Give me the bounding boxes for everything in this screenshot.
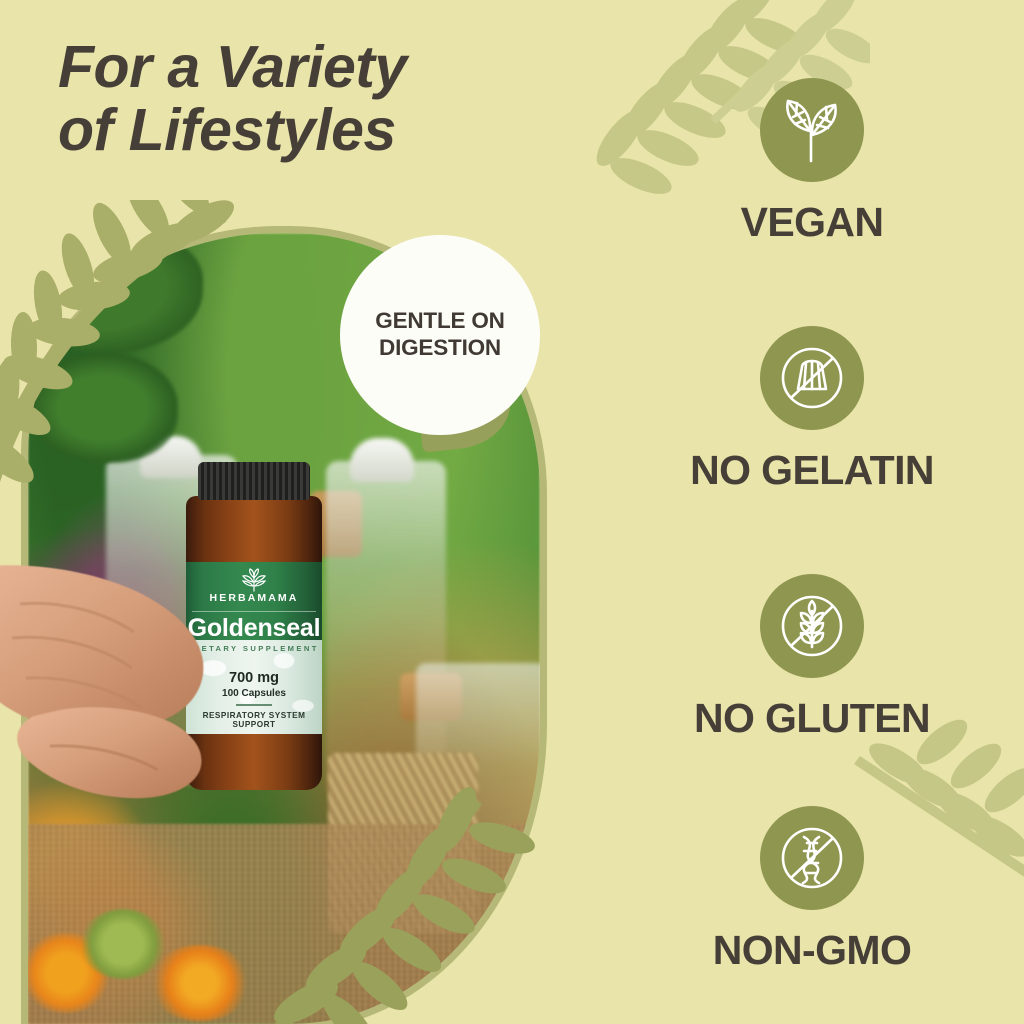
hand-holding-bottle bbox=[0, 560, 254, 860]
badge-vegan-circle bbox=[760, 78, 864, 182]
bottle-cap bbox=[198, 462, 310, 500]
page-title: For a Variety of Lifestyles bbox=[58, 36, 528, 161]
badge-non-gmo-circle bbox=[760, 806, 864, 910]
gentle-on-digestion-badge: GENTLE ON DIGESTION bbox=[340, 235, 540, 435]
gentle-on-digestion-label: GENTLE ON DIGESTION bbox=[375, 308, 504, 361]
headline-line-1: For a Variety bbox=[58, 34, 407, 100]
badge-no-gelatin-circle bbox=[760, 326, 864, 430]
badge-non-gmo-label: NON-GMO bbox=[600, 927, 1024, 974]
badge-no-gelatin: NO GELATIN bbox=[600, 326, 1024, 494]
glass-jar-middle-cap bbox=[350, 438, 414, 482]
headline-line-2: of Lifestyles bbox=[58, 99, 528, 162]
badge-vegan-label: VEGAN bbox=[600, 199, 1024, 246]
no-gelatin-mold-icon bbox=[773, 339, 851, 417]
no-gmo-dna-icon bbox=[773, 819, 851, 897]
two-leaves-icon bbox=[775, 93, 849, 167]
badge-vegan: VEGAN bbox=[600, 78, 1024, 246]
badge-no-gluten-label: NO GLUTEN bbox=[600, 695, 1024, 742]
feature-badges: VEGAN NO GELATIN bbox=[600, 58, 1024, 988]
calendula-flower-2 bbox=[148, 945, 252, 1021]
badge-no-gluten: NO GLUTEN bbox=[600, 574, 1024, 742]
infographic-canvas: HERBAMAMA Goldenseal DIETARY SUPPLEMENT … bbox=[0, 0, 1024, 1024]
badge-no-gluten-circle bbox=[760, 574, 864, 678]
badge-non-gmo: NON-GMO bbox=[600, 806, 1024, 974]
no-gluten-wheat-icon bbox=[773, 587, 851, 665]
badge-no-gelatin-label: NO GELATIN bbox=[600, 447, 1024, 494]
